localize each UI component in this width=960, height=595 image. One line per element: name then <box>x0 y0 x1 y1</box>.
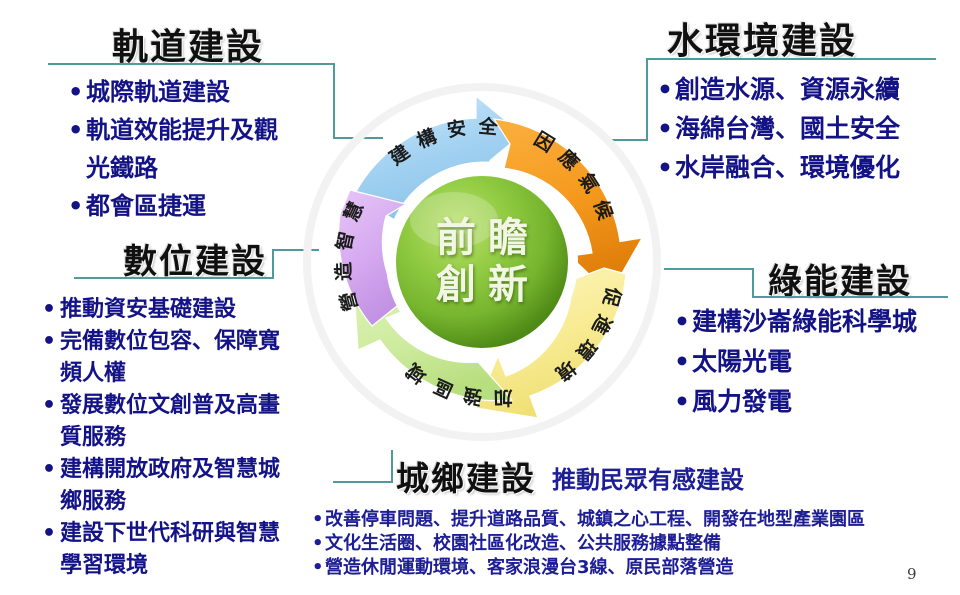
heading-urban-rural: 城鄉建設 <box>396 452 536 500</box>
rule-green-horizontal <box>752 296 948 298</box>
rule-digital-vertical <box>272 249 274 279</box>
bullets-rail: 城際軌道建設 軌道效能提升及觀 光鐵路 都會區捷運 <box>66 73 278 225</box>
list-item: 發展數位文創普及高畫 <box>40 390 280 422</box>
page-number: 9 <box>907 565 917 583</box>
wheel-svg: 建構安全便捷 因應氣候變遷 促進環境永續 加強區域均衡 營造智慧國土 <box>298 78 666 446</box>
core-sphere-highlight <box>410 192 498 248</box>
list-item: 推動資安基礎建設 <box>40 294 280 326</box>
list-item: 營造休閒運動環境、客家浪漫台3線、原民部落營造 <box>312 556 865 580</box>
list-item: 建構沙崙綠能科學城 <box>672 302 917 342</box>
list-item: 太陽光電 <box>672 342 917 382</box>
rule-urban-vertical <box>391 450 393 483</box>
list-item: 建構開放政府及智慧城 <box>40 454 280 486</box>
bullets-water: 創造水源、資源永續 海綿台灣、國土安全 水岸融合、環境優化 <box>655 70 900 187</box>
rule-digital-horizontal <box>74 277 274 279</box>
rule-green-connector <box>664 268 754 270</box>
rule-green-vertical <box>752 268 754 298</box>
list-item: 都會區捷運 <box>66 187 278 225</box>
bullets-digital: 推動資安基礎建設 完備數位包容、保障寬 頻人權 發展數位文創普及高畫 質服務 建… <box>40 294 280 582</box>
bullets-urban-rural: 改善停車問題、提升道路品質、城鎮之心工程、開發在地型產業園區 文化生活圈、校園社… <box>312 508 865 580</box>
list-item: 完備數位包容、保障寬 <box>40 326 280 358</box>
list-item: 風力發電 <box>672 382 917 422</box>
list-item: 創造水源、資源永續 <box>655 70 900 109</box>
list-item: 光鐵路 <box>66 149 278 187</box>
list-item: 文化生活圈、校園社區化改造、公共服務據點整備 <box>312 532 865 556</box>
list-item: 建設下世代科研與智慧 <box>40 518 280 550</box>
list-item: 水岸融合、環境優化 <box>655 148 900 187</box>
rule-urban-connector <box>333 481 393 483</box>
rule-water-horizontal <box>646 58 936 60</box>
bullets-green-energy: 建構沙崙綠能科學城 太陽光電 風力發電 <box>672 302 917 422</box>
list-item: 質服務 <box>40 422 280 454</box>
list-item: 城際軌道建設 <box>66 73 278 111</box>
list-item: 海綿台灣、國土安全 <box>655 109 900 148</box>
list-item: 軌道效能提升及觀 <box>66 111 278 149</box>
list-item: 鄉服務 <box>40 486 280 518</box>
heading-digital: 數位建設 <box>123 234 267 283</box>
list-item: 頻人權 <box>40 358 280 390</box>
central-cycle-diagram: 建構安全便捷 因應氣候變遷 促進環境永續 加強區域均衡 營造智慧國土 前瞻 創新 <box>298 78 666 446</box>
list-item: 改善停車問題、提升道路品質、城鎮之心工程、開發在地型產業園區 <box>312 508 865 532</box>
rule-rail-horizontal <box>48 63 335 65</box>
slide-canvas: 軌道建設 城際軌道建設 軌道效能提升及觀 光鐵路 都會區捷運 水環境建設 創造水… <box>0 0 960 595</box>
list-item: 學習環境 <box>40 550 280 582</box>
heading-water: 水環境建設 <box>667 12 857 64</box>
subtitle-urban-rural: 推動民眾有感建設 <box>552 460 744 495</box>
